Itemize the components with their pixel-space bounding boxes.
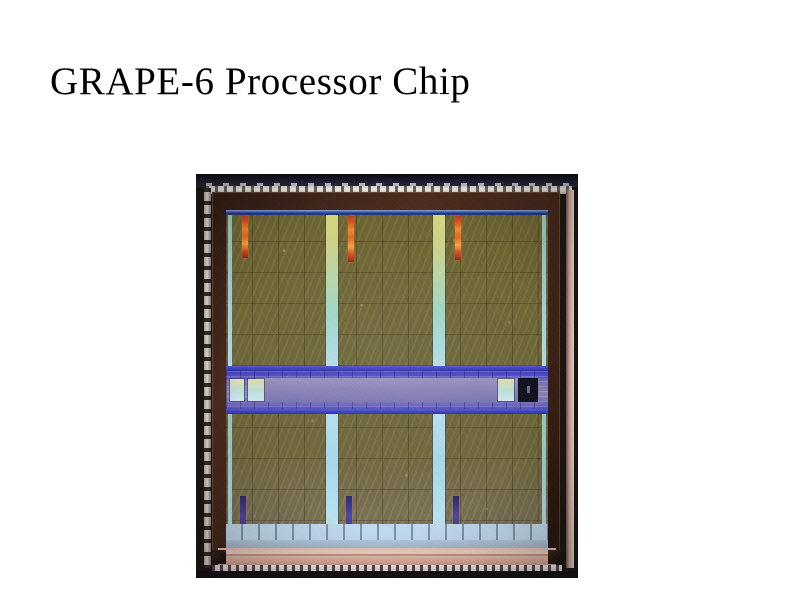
die-photo-image <box>196 174 578 578</box>
lower-block-1-left-rail <box>228 414 232 532</box>
upper-block-3-right-rail <box>542 215 546 379</box>
lower-block-3-right-rail <box>542 414 546 532</box>
die-top-metal-rail <box>226 210 548 215</box>
bottom-bond-pad-row <box>226 524 548 540</box>
grape-6-die-photograph <box>196 174 578 578</box>
die-active-area <box>226 210 548 550</box>
upper-block-1-left-rail <box>228 215 232 379</box>
upper-bus-strip-2 <box>433 215 445 379</box>
corner-notch-right <box>548 550 562 564</box>
upper-bus-strip-1 <box>326 215 338 379</box>
band-cell-left-a <box>230 379 244 401</box>
hot-strip-block-3 <box>455 216 461 260</box>
right-saw-street <box>566 190 574 568</box>
package-skirt <box>218 548 556 566</box>
lower-bus-strip-1 <box>326 414 338 532</box>
die-marking-box <box>518 378 538 402</box>
hot-strip-block-2 <box>348 216 354 262</box>
page-title: GRAPE-6 Processor Chip <box>50 62 471 103</box>
band-cell-right-a <box>498 379 514 401</box>
lower-bus-strip-2 <box>433 414 445 532</box>
central-bus-core <box>256 378 518 402</box>
corner-notch-left <box>212 550 226 564</box>
hot-strip-block-1 <box>242 216 248 258</box>
bottom-dark-edge <box>196 571 578 578</box>
central-bus-top-rail <box>226 366 548 371</box>
central-bus-band <box>226 366 548 414</box>
left-saw-street <box>204 188 211 568</box>
slide-canvas: GRAPE-6 Processor Chip <box>0 0 800 600</box>
central-bus-bottom-rail <box>226 409 548 414</box>
band-cell-left-b <box>248 379 264 401</box>
